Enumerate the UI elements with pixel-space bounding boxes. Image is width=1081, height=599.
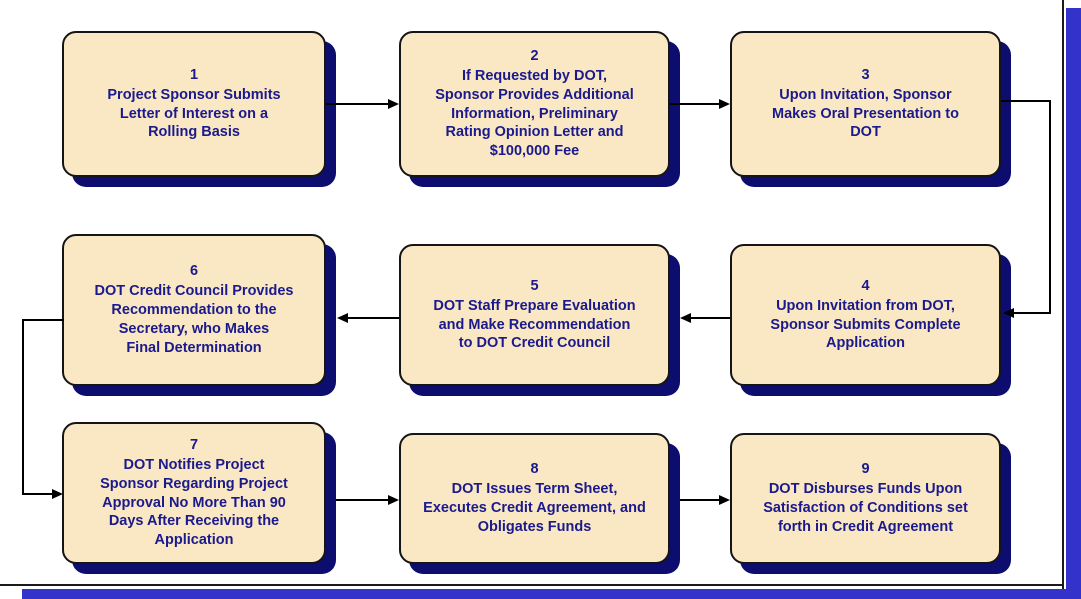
edge-2-to-3-line — [670, 103, 719, 105]
frame-accent-band-bottom — [22, 589, 1081, 599]
edge-6-to-7-segment-vertical — [22, 319, 24, 495]
frame-border-bottom — [0, 584, 1064, 586]
process-node-4[interactable]: 4 Upon Invitation from DOT, Sponsor Subm… — [730, 244, 1001, 386]
node-number-5: 5 — [530, 277, 538, 296]
node-number-4: 4 — [861, 277, 869, 296]
process-node-3[interactable]: 3 Upon Invitation, Sponsor Makes Oral Pr… — [730, 31, 1001, 177]
edge-6-to-7-segment-bottom — [22, 493, 54, 495]
node-text-7: DOT Notifies Project Sponsor Regarding P… — [100, 456, 288, 550]
node-text-8: DOT Issues Term Sheet, Executes Credit A… — [423, 480, 646, 537]
frame-border-right — [1062, 0, 1064, 592]
flowchart-canvas: 1 Project Sponsor Submits Letter of Inte… — [0, 0, 1081, 599]
node-text-2: If Requested by DOT, Sponsor Provides Ad… — [435, 67, 633, 161]
node-text-4: Upon Invitation from DOT, Sponsor Submit… — [770, 297, 960, 354]
node-text-9: DOT Disburses Funds Upon Satisfaction of… — [763, 480, 968, 537]
process-node-8[interactable]: 8 DOT Issues Term Sheet, Executes Credit… — [399, 433, 670, 564]
process-node-1[interactable]: 1 Project Sponsor Submits Letter of Inte… — [62, 31, 326, 177]
node-number-6: 6 — [190, 262, 198, 281]
node-number-3: 3 — [861, 66, 869, 85]
edge-4-to-5-arrowhead — [680, 313, 691, 323]
edge-5-to-6-arrowhead — [337, 313, 348, 323]
edge-7-to-8-arrowhead — [388, 495, 399, 505]
edge-7-to-8-line — [336, 499, 388, 501]
node-number-7: 7 — [190, 436, 198, 455]
edge-6-to-7-arrowhead — [52, 489, 63, 499]
edge-1-to-2-line — [326, 103, 388, 105]
edge-8-to-9-line — [680, 499, 719, 501]
edge-5-to-6-line — [348, 317, 399, 319]
edge-2-to-3-arrowhead — [719, 99, 730, 109]
process-node-5[interactable]: 5 DOT Staff Prepare Evaluation and Make … — [399, 244, 670, 386]
edge-3-to-4-segment-top — [1001, 100, 1051, 102]
node-number-9: 9 — [861, 460, 869, 479]
process-node-9[interactable]: 9 DOT Disburses Funds Upon Satisfaction … — [730, 433, 1001, 564]
node-number-8: 8 — [530, 460, 538, 479]
process-node-2[interactable]: 2 If Requested by DOT, Sponsor Provides … — [399, 31, 670, 177]
node-text-1: Project Sponsor Submits Letter of Intere… — [107, 86, 280, 143]
edge-4-to-5-line — [691, 317, 730, 319]
node-number-1: 1 — [190, 66, 198, 85]
edge-8-to-9-arrowhead — [719, 495, 730, 505]
node-text-6: DOT Credit Council Provides Recommendati… — [95, 282, 294, 357]
node-number-2: 2 — [530, 47, 538, 66]
edge-3-to-4-segment-bottom — [1014, 312, 1051, 314]
process-node-6[interactable]: 6 DOT Credit Council Provides Recommenda… — [62, 234, 326, 386]
node-text-3: Upon Invitation, Sponsor Makes Oral Pres… — [772, 86, 959, 143]
edge-1-to-2-arrowhead — [388, 99, 399, 109]
edge-3-to-4-segment-vertical — [1049, 100, 1051, 314]
node-text-5: DOT Staff Prepare Evaluation and Make Re… — [433, 297, 635, 354]
edge-6-to-7-segment-top — [22, 319, 64, 321]
edge-3-to-4-arrowhead — [1003, 308, 1014, 318]
frame-accent-band-right — [1066, 8, 1081, 599]
process-node-7[interactable]: 7 DOT Notifies Project Sponsor Regarding… — [62, 422, 326, 564]
